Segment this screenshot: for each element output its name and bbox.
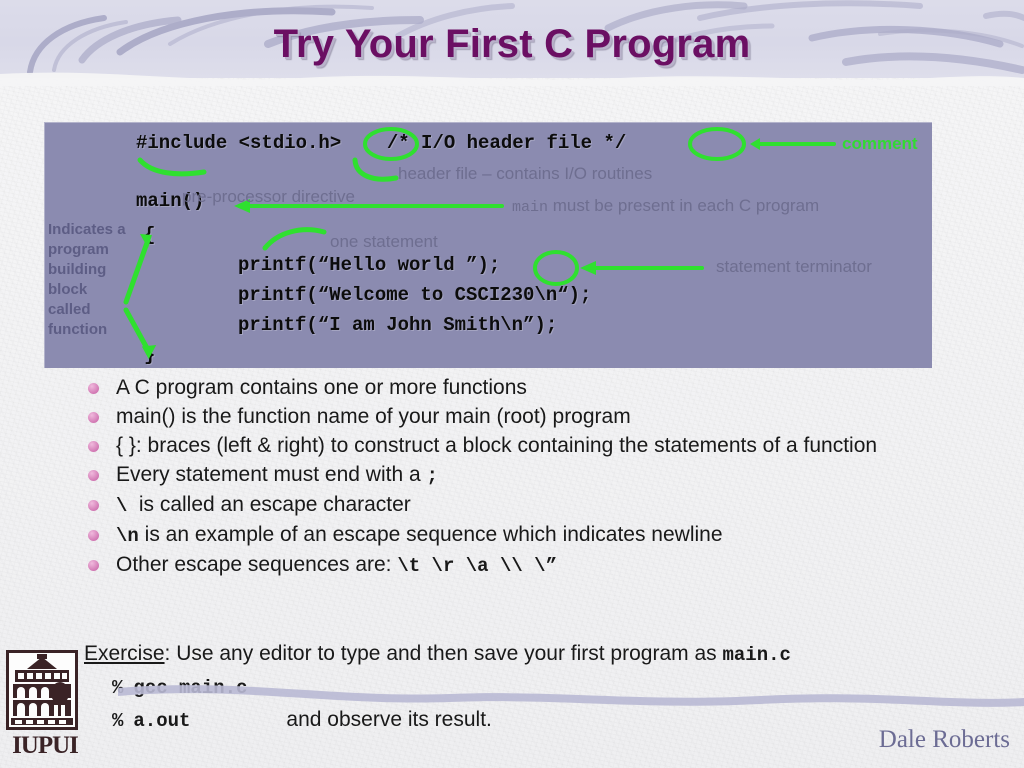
bullet-dot-icon — [88, 441, 99, 452]
bullet-text-5-code: \ — [116, 495, 139, 517]
annotation-statement-terminator: statement terminator — [716, 257, 872, 277]
code-example-panel: #include <stdio.h> /* I/O header file */… — [44, 122, 932, 368]
annotation-main-required: main must be present in each C program — [512, 196, 819, 216]
bullet-dot-icon — [88, 530, 99, 541]
annotation-preprocessor-directive: pre-processor directive — [182, 187, 355, 207]
bullet-text-5: \ is called an escape character — [116, 491, 988, 520]
bullet-dot-icon — [88, 500, 99, 511]
bullet-dot-icon — [88, 412, 99, 423]
list-item: { }: braces (left & right) to construct … — [88, 432, 988, 460]
bullet-list: A C program contains one or more functio… — [88, 374, 988, 581]
annotation-header-file: header file – contains I/O routines — [398, 164, 652, 184]
title-banner: Try Your First C Program — [0, 0, 1024, 86]
logo-frame — [6, 650, 78, 730]
bullet-text-1: A C program contains one or more functio… — [116, 374, 988, 402]
author-signature: Dale Roberts — [0, 726, 1010, 754]
bullet-text-3: { }: braces (left & right) to construct … — [116, 432, 988, 460]
bullet-dot-icon — [88, 470, 99, 481]
exercise-instruction: : Use any editor to type and then save y… — [165, 642, 723, 665]
bullet-text-6-code: \n — [116, 525, 139, 547]
annotation-main-text: must be present in each C program — [548, 196, 819, 215]
annotation-main-code: main — [512, 199, 548, 216]
bullet-text-4-code: ; — [426, 465, 437, 487]
bullet-text-7: Other escape sequences are: \t \r \a \\ … — [116, 551, 988, 580]
logo-building-icon — [9, 653, 75, 727]
bullet-text-6: \n is an example of an escape sequence w… — [116, 521, 988, 550]
list-item: A C program contains one or more functio… — [88, 374, 988, 402]
list-item: Other escape sequences are: \t \r \a \\ … — [88, 551, 988, 580]
bullet-text-2: main() is the function name of your main… — [116, 403, 988, 431]
bullet-text-5-suffix: is called an escape character — [139, 493, 411, 516]
footer-wave-divider — [0, 668, 1024, 708]
bullet-dot-icon — [88, 560, 99, 571]
bullet-text-7-code: \t \r \a \\ \” — [397, 555, 557, 577]
page-title: Try Your First C Program — [0, 22, 1024, 67]
exercise-label: Exercise — [84, 642, 165, 665]
list-item: \ is called an escape character — [88, 491, 988, 520]
slide-canvas: Try Your First C Program #include <stdio… — [0, 0, 1024, 768]
bullet-dot-icon — [88, 383, 99, 394]
list-item: main() is the function name of your main… — [88, 403, 988, 431]
exercise-filename: main.c — [722, 644, 790, 666]
annotation-function-block: Indicates a program building block calle… — [48, 220, 132, 340]
annotation-comment-label: comment — [842, 134, 918, 154]
annotation-one-statement: one statement — [330, 232, 438, 252]
exercise-line-1: Exercise: Use any editor to type and the… — [84, 638, 1004, 671]
list-item: Every statement must end with a ; — [88, 461, 988, 490]
bullet-text-7-prefix: Other escape sequences are: — [116, 553, 397, 576]
bullet-text-4-prefix: Every statement must end with a — [116, 463, 426, 486]
list-item: \n is an example of an escape sequence w… — [88, 521, 988, 550]
bullet-text-4: Every statement must end with a ; — [116, 461, 988, 490]
bullet-text-6-suffix: is an example of an escape sequence whic… — [139, 523, 723, 546]
green-annotation-marks — [44, 122, 932, 368]
